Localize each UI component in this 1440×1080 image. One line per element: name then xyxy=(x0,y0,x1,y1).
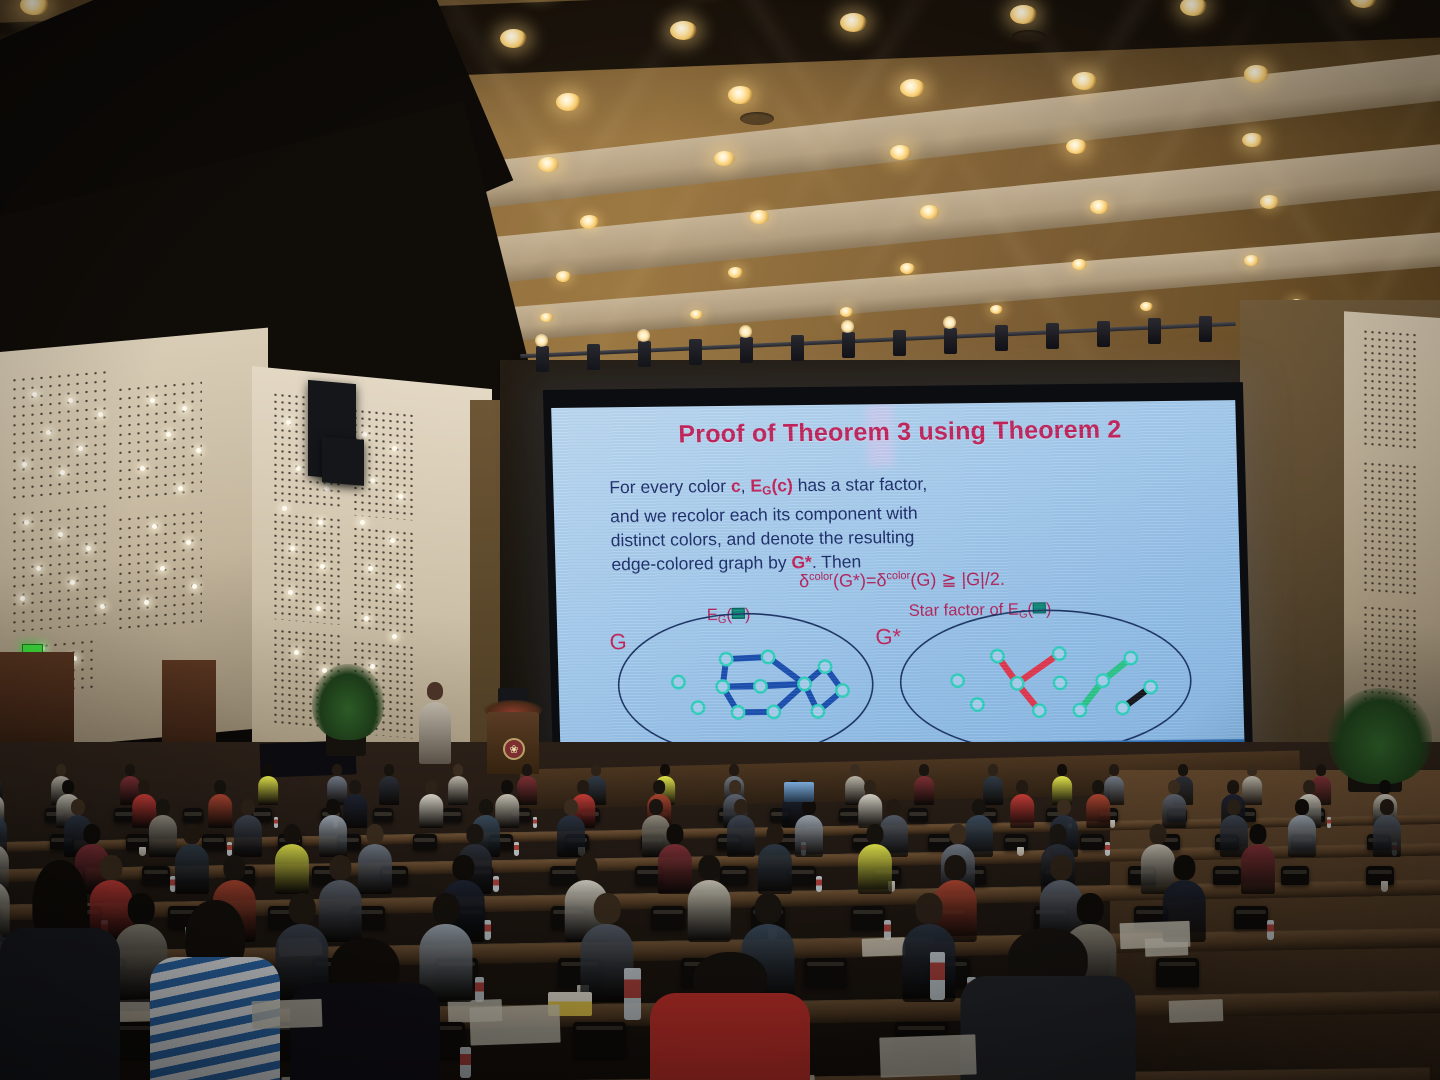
head xyxy=(330,855,351,880)
paper-cup xyxy=(1017,847,1023,856)
wall-accent-light xyxy=(316,606,321,611)
wall-accent-light xyxy=(370,478,375,483)
graph-node xyxy=(951,674,964,687)
truss-spotlight xyxy=(740,337,753,363)
chair[interactable] xyxy=(373,808,393,822)
head xyxy=(139,780,151,794)
torso xyxy=(1241,844,1275,894)
ceiling-light xyxy=(1072,259,1087,270)
head xyxy=(83,824,100,844)
handout-paper xyxy=(1168,999,1222,1023)
audience-member xyxy=(174,824,210,894)
ceiling-light xyxy=(900,79,925,97)
perforated-acoustic-panel xyxy=(116,378,202,506)
graph-node xyxy=(798,678,811,691)
chair[interactable] xyxy=(126,834,150,850)
truss-spotlight-glow xyxy=(943,316,956,329)
graph-node xyxy=(716,680,729,693)
wall-accent-light xyxy=(288,590,293,595)
ceiling-light xyxy=(920,205,939,219)
water-bottle xyxy=(1327,817,1331,828)
wall-accent-light xyxy=(46,430,51,435)
audience-member xyxy=(901,893,957,1002)
ceiling-light xyxy=(1180,0,1207,16)
graph-node xyxy=(762,651,775,664)
graph-node xyxy=(767,706,780,719)
ceiling-light xyxy=(20,0,49,15)
audience-member xyxy=(379,764,400,805)
audience-member xyxy=(318,799,348,857)
water-bottle xyxy=(1105,842,1110,856)
head xyxy=(63,780,75,794)
foreground-dark-hoodie-person xyxy=(960,928,1135,1080)
audience-member xyxy=(419,780,444,828)
ceiling-light xyxy=(714,151,735,166)
truss-spotlight xyxy=(1199,316,1212,342)
ceiling-light xyxy=(1066,139,1087,154)
wall-accent-light xyxy=(398,494,403,499)
head xyxy=(916,893,943,924)
chair[interactable] xyxy=(804,958,847,987)
chair[interactable] xyxy=(142,866,170,885)
head xyxy=(522,764,532,775)
graph-node xyxy=(692,701,705,714)
wall-accent-light xyxy=(178,486,183,491)
chair[interactable] xyxy=(851,906,885,929)
head xyxy=(453,855,474,880)
truss-spotlight xyxy=(1046,323,1059,349)
perforated-acoustic-panel xyxy=(1362,460,1420,598)
laptop[interactable] xyxy=(784,782,814,802)
ceiling-light xyxy=(890,145,911,160)
torso xyxy=(727,815,755,856)
head xyxy=(729,764,739,775)
graph-node xyxy=(1073,704,1086,717)
head xyxy=(326,799,340,815)
wall-accent-light xyxy=(152,524,157,529)
head xyxy=(215,780,227,794)
audience-member xyxy=(687,855,732,942)
torso xyxy=(319,815,347,856)
audience-member xyxy=(857,824,893,894)
torso xyxy=(858,844,892,894)
head xyxy=(1049,824,1066,844)
chair[interactable] xyxy=(839,808,859,822)
chair[interactable] xyxy=(573,1022,626,1058)
truss-spotlight xyxy=(536,346,549,372)
ceiling-light xyxy=(556,93,581,111)
wall-accent-light xyxy=(368,566,373,571)
perforated-acoustic-panel xyxy=(272,511,340,625)
head xyxy=(766,824,783,844)
graph-node xyxy=(1054,677,1067,690)
wall-accent-light xyxy=(166,432,171,437)
ceiling-light xyxy=(728,86,753,104)
torso xyxy=(795,815,823,856)
head xyxy=(466,824,483,844)
water-bottle xyxy=(930,952,945,1000)
projection-screen: Proof of Theorem 3 using Theorem 2 For e… xyxy=(551,400,1245,764)
foreground-red-jacket-person xyxy=(650,952,810,1080)
audience-member xyxy=(726,799,756,857)
head xyxy=(283,824,300,844)
audience-member xyxy=(914,764,935,805)
head xyxy=(1380,799,1394,815)
wall-accent-light xyxy=(320,564,325,569)
graph-node xyxy=(1124,652,1137,665)
ceiling-light xyxy=(1244,65,1269,83)
audience-member xyxy=(1372,799,1402,857)
torso xyxy=(518,776,538,805)
handout-paper xyxy=(469,1004,560,1045)
head xyxy=(666,824,683,844)
water-bottle xyxy=(493,876,499,892)
graph-node xyxy=(971,698,984,711)
handout-paper xyxy=(879,1034,976,1077)
chair[interactable] xyxy=(1004,834,1028,850)
truss-spotlight xyxy=(791,335,804,361)
handout-paper xyxy=(862,937,906,956)
head xyxy=(1316,764,1326,775)
graph-node xyxy=(1033,704,1046,717)
truss-spotlight-glow xyxy=(535,334,548,347)
wall-accent-light xyxy=(390,538,395,543)
graph-node xyxy=(754,680,767,693)
head xyxy=(426,780,438,794)
graph-node xyxy=(836,684,849,697)
torso xyxy=(234,815,262,856)
head xyxy=(1227,799,1241,815)
wall-accent-light xyxy=(364,616,369,621)
wall-accent-light xyxy=(86,546,91,551)
chair[interactable] xyxy=(183,808,203,822)
head xyxy=(0,824,1,844)
wall-accent-light xyxy=(192,584,197,589)
wall-accent-light xyxy=(282,506,287,511)
water-bottle xyxy=(475,977,484,1002)
ceiling-light xyxy=(538,157,559,172)
head xyxy=(156,799,170,815)
torso xyxy=(290,983,440,1080)
presenter xyxy=(418,682,452,764)
wall-accent-light xyxy=(68,398,73,403)
ceiling-light xyxy=(1010,5,1037,24)
head xyxy=(654,780,666,794)
ceiling-light xyxy=(1244,255,1259,266)
head xyxy=(1295,799,1309,815)
head xyxy=(660,764,670,775)
truss-spotlight xyxy=(638,341,651,367)
torso xyxy=(420,794,444,829)
truss-spotlight xyxy=(587,344,600,370)
ceiling-light xyxy=(1072,72,1097,90)
head xyxy=(594,893,621,924)
graph-node xyxy=(672,676,685,689)
audience-member xyxy=(274,824,310,894)
torso xyxy=(1011,794,1035,829)
chair[interactable] xyxy=(114,808,134,822)
torso xyxy=(275,844,309,894)
torso xyxy=(175,844,209,894)
perforated-acoustic-panel xyxy=(1362,328,1420,452)
truss-spotlight xyxy=(842,332,855,358)
audience-member xyxy=(1287,799,1317,857)
wall-accent-light xyxy=(318,520,323,525)
head xyxy=(734,799,748,815)
head xyxy=(591,764,601,775)
graph-node xyxy=(819,660,832,673)
foreground-striped-shirt-person xyxy=(150,900,280,1080)
wall-accent-light xyxy=(360,520,365,525)
ceiling-light xyxy=(728,267,743,278)
ceiling-light xyxy=(670,21,697,40)
head xyxy=(263,764,273,775)
head xyxy=(1017,780,1029,794)
truss-spotlight xyxy=(944,328,957,354)
chair[interactable] xyxy=(1281,866,1309,885)
water-bottle xyxy=(533,817,537,828)
head xyxy=(945,855,966,880)
truss-spotlight-glow xyxy=(739,325,752,338)
head xyxy=(866,824,883,844)
torso xyxy=(449,776,469,805)
graph-diagrams xyxy=(551,400,1245,764)
wall-accent-light xyxy=(100,604,105,609)
chair[interactable] xyxy=(651,906,685,929)
head xyxy=(289,893,316,924)
handout-paper xyxy=(252,999,323,1029)
ceiling-light xyxy=(500,29,527,48)
head xyxy=(350,780,362,794)
head xyxy=(755,893,782,924)
wall-accent-light xyxy=(392,634,397,639)
audience-member xyxy=(1162,780,1187,828)
graph-node xyxy=(1144,681,1157,694)
graph-node xyxy=(812,705,825,718)
water-bottle xyxy=(624,968,641,1020)
head xyxy=(71,799,85,815)
graph-node xyxy=(1053,647,1066,660)
wall-accent-light xyxy=(182,406,187,411)
truss-spotlight xyxy=(689,339,702,365)
head xyxy=(224,855,245,880)
head xyxy=(1380,780,1392,794)
graph-node xyxy=(1011,677,1024,690)
wall-accent-light xyxy=(70,580,75,585)
head xyxy=(1109,764,1119,775)
audience-member xyxy=(556,799,586,857)
torso xyxy=(557,815,585,856)
ceiling-light xyxy=(1140,302,1153,311)
graph-node xyxy=(1116,702,1129,715)
wall-accent-light xyxy=(78,446,83,451)
chair[interactable] xyxy=(908,808,928,822)
audience-member xyxy=(517,764,538,805)
ceiling-light xyxy=(540,313,553,322)
head xyxy=(699,855,720,880)
wall-accent-light xyxy=(324,486,329,491)
perforated-acoustic-panel xyxy=(352,525,416,635)
line-array-speaker-lower xyxy=(322,436,364,486)
ceiling-light xyxy=(1090,200,1109,214)
head xyxy=(479,799,493,815)
chair[interactable] xyxy=(1234,906,1268,929)
perforated-acoustic-panel xyxy=(10,368,106,504)
water-bottle xyxy=(816,876,822,892)
wall-accent-light xyxy=(396,584,401,589)
head xyxy=(384,764,394,775)
wall-accent-light xyxy=(294,650,299,655)
chair[interactable] xyxy=(413,834,437,850)
ceiling-light xyxy=(580,215,599,229)
head xyxy=(1174,855,1195,880)
wall-accent-light xyxy=(196,448,201,453)
audience-member xyxy=(448,764,469,805)
head xyxy=(1228,780,1240,794)
audience-member xyxy=(757,824,793,894)
audience-member xyxy=(1240,824,1276,894)
head xyxy=(949,824,966,844)
head xyxy=(988,764,998,775)
head xyxy=(502,780,514,794)
torso xyxy=(650,993,810,1080)
ceiling-light xyxy=(900,263,915,274)
ceiling-light xyxy=(1242,133,1263,148)
graph-node xyxy=(991,650,1004,663)
chair[interactable] xyxy=(1156,958,1199,987)
wall-accent-light xyxy=(22,462,27,467)
truss-spotlight xyxy=(995,325,1008,351)
torso xyxy=(902,924,955,1002)
head xyxy=(649,799,663,815)
wall-accent-light xyxy=(58,532,63,537)
wall-accent-light xyxy=(144,600,149,605)
head xyxy=(1057,764,1067,775)
head xyxy=(1077,893,1104,924)
ceiling-vent xyxy=(740,112,774,125)
head xyxy=(730,780,742,794)
foreground-left-person xyxy=(0,860,120,1080)
water-bottle xyxy=(1267,920,1274,940)
wall-accent-light xyxy=(160,566,165,571)
torso xyxy=(1163,794,1187,829)
handout-paper xyxy=(1120,921,1191,949)
ceiling-light xyxy=(840,307,853,316)
torso xyxy=(1373,815,1401,856)
ceiling-light xyxy=(990,305,1003,314)
head xyxy=(576,855,597,880)
audience-member xyxy=(233,799,263,857)
chair[interactable] xyxy=(442,808,462,822)
head xyxy=(1247,764,1257,775)
head xyxy=(578,780,590,794)
head xyxy=(1169,780,1181,794)
potted-plant-right xyxy=(1328,688,1432,784)
wall-accent-light xyxy=(296,466,301,471)
head xyxy=(865,780,877,794)
truss-spotlight xyxy=(1148,318,1161,344)
ceiling-light xyxy=(1260,195,1279,209)
head xyxy=(1093,780,1105,794)
wall-accent-light xyxy=(98,412,103,417)
truss-spotlight xyxy=(893,330,906,356)
wall-accent-light xyxy=(370,664,375,669)
head xyxy=(125,764,135,775)
torso xyxy=(0,928,120,1080)
lecture-hall-photo: Proof of Theorem 3 using Theorem 2 For e… xyxy=(0,0,1440,1080)
head xyxy=(564,799,578,815)
torso xyxy=(380,776,400,805)
head xyxy=(850,764,860,775)
audience-member xyxy=(1086,780,1111,828)
audience-member xyxy=(794,799,824,857)
graph-node xyxy=(720,653,733,666)
university-emblem: ❀ xyxy=(503,738,525,760)
head xyxy=(1304,780,1316,794)
head xyxy=(433,893,460,924)
wall-accent-light xyxy=(150,398,155,403)
water-bottle xyxy=(460,1047,471,1078)
head xyxy=(183,824,200,844)
ceiling-vent xyxy=(1012,30,1046,43)
head xyxy=(1249,824,1266,844)
wall-accent-light xyxy=(392,446,397,451)
audience-member xyxy=(1010,780,1035,828)
torso xyxy=(915,776,935,805)
torso xyxy=(149,815,177,856)
wall-accent-light xyxy=(362,432,367,437)
water-bottle xyxy=(514,842,519,856)
paper-cup xyxy=(1381,881,1388,892)
wall-accent-light xyxy=(20,596,25,601)
head xyxy=(453,764,463,775)
torso xyxy=(209,794,233,829)
head xyxy=(241,799,255,815)
torso xyxy=(688,880,731,943)
wall-accent-light xyxy=(36,566,41,571)
wall-accent-light xyxy=(140,466,145,471)
graph-node xyxy=(732,706,745,719)
head xyxy=(972,799,986,815)
head xyxy=(887,799,901,815)
head xyxy=(1051,855,1072,880)
wall-accent-light xyxy=(186,540,191,545)
torso xyxy=(1087,794,1111,829)
graph-node xyxy=(1096,674,1109,687)
torso xyxy=(358,844,392,894)
head xyxy=(332,764,342,775)
wall-accent-light xyxy=(60,470,65,475)
head xyxy=(1178,764,1188,775)
chair[interactable] xyxy=(1213,866,1241,885)
perforated-acoustic-panel xyxy=(116,508,202,632)
wall-accent-light xyxy=(24,520,29,525)
chair[interactable] xyxy=(1080,834,1104,850)
ceiling-light xyxy=(556,271,571,282)
wall-accent-light xyxy=(32,392,37,397)
head xyxy=(1149,824,1166,844)
torso xyxy=(1288,815,1316,856)
paper-cup xyxy=(139,847,145,856)
torso xyxy=(960,976,1135,1080)
wall-accent-light xyxy=(286,420,291,425)
potted-plant-left xyxy=(312,664,384,740)
ceiling-light xyxy=(840,13,867,32)
wall-accent-light xyxy=(290,546,295,551)
torso xyxy=(758,844,792,894)
head xyxy=(1057,799,1071,815)
ceiling-light xyxy=(750,210,769,224)
